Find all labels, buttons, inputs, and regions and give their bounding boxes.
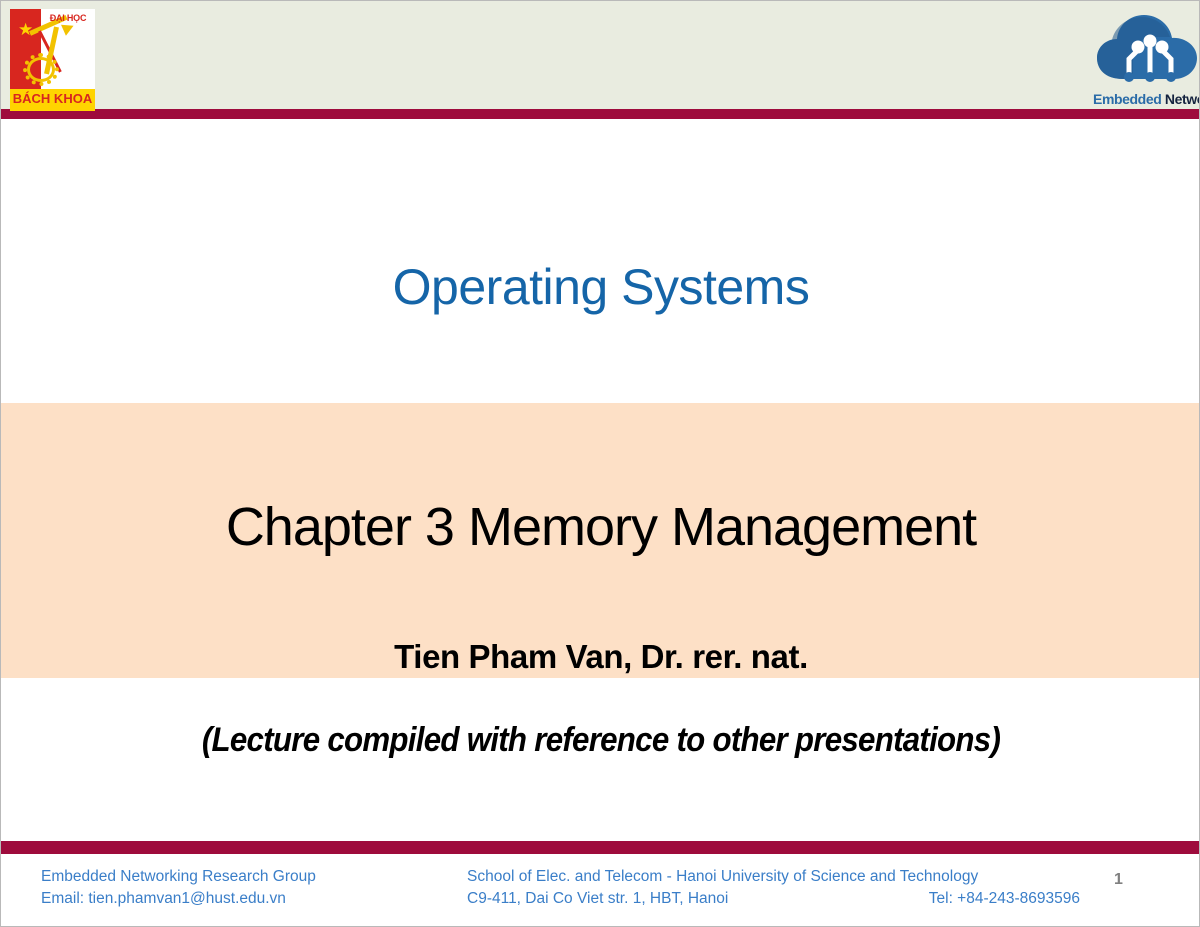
footer-telephone: Tel: +84-243-8693596 <box>929 888 1080 910</box>
presentation-slide: ĐẠI HỌC BÁCH KHOA Embedded Networking Op… <box>0 0 1200 927</box>
footer-address: C9-411, Dai Co Viet str. 1, HBT, Hanoi <box>467 888 728 910</box>
footer-research-group: Embedded Networking Research Group <box>41 866 316 888</box>
footer-right-block: School of Elec. and Telecom - Hanoi Univ… <box>467 866 1082 910</box>
page-number: 1 <box>1114 871 1123 889</box>
lecture-subtitle: (Lecture compiled with reference to othe… <box>49 721 1153 760</box>
logo-gear-inner-icon <box>27 57 55 82</box>
wordmark-embedded: Embedded <box>1093 91 1161 107</box>
footer-left-block: Embedded Networking Research Group Email… <box>41 866 316 910</box>
embedded-networking-wordmark: Embedded Networking <box>1093 91 1200 107</box>
wordmark-networking: Networking <box>1165 91 1200 107</box>
course-title: Operating Systems <box>1 258 1200 316</box>
header-band <box>1 1 1200 109</box>
logo-dai-hoc-text: ĐẠI HỌC <box>43 13 93 23</box>
hust-bach-khoa-logo-icon: ĐẠI HỌC BÁCH KHOA <box>10 9 95 111</box>
cloud-circuit-icon <box>1093 7 1200 93</box>
footer-address-row: C9-411, Dai Co Viet str. 1, HBT, Hanoi T… <box>467 888 1080 910</box>
footer-school: School of Elec. and Telecom - Hanoi Univ… <box>467 866 1082 888</box>
chapter-title: Chapter 3 Memory Management <box>1 496 1200 558</box>
header-accent-rule <box>1 109 1200 119</box>
footer-accent-rule <box>1 841 1200 854</box>
footer-email[interactable]: Email: tien.phamvan1@hust.edu.vn <box>41 888 316 910</box>
logo-bach-khoa-text: BÁCH KHOA <box>10 91 95 106</box>
embedded-networking-logo-icon: Embedded Networking <box>1093 7 1200 109</box>
author-name: Tien Pham Van, Dr. rer. nat. <box>1 638 1200 676</box>
